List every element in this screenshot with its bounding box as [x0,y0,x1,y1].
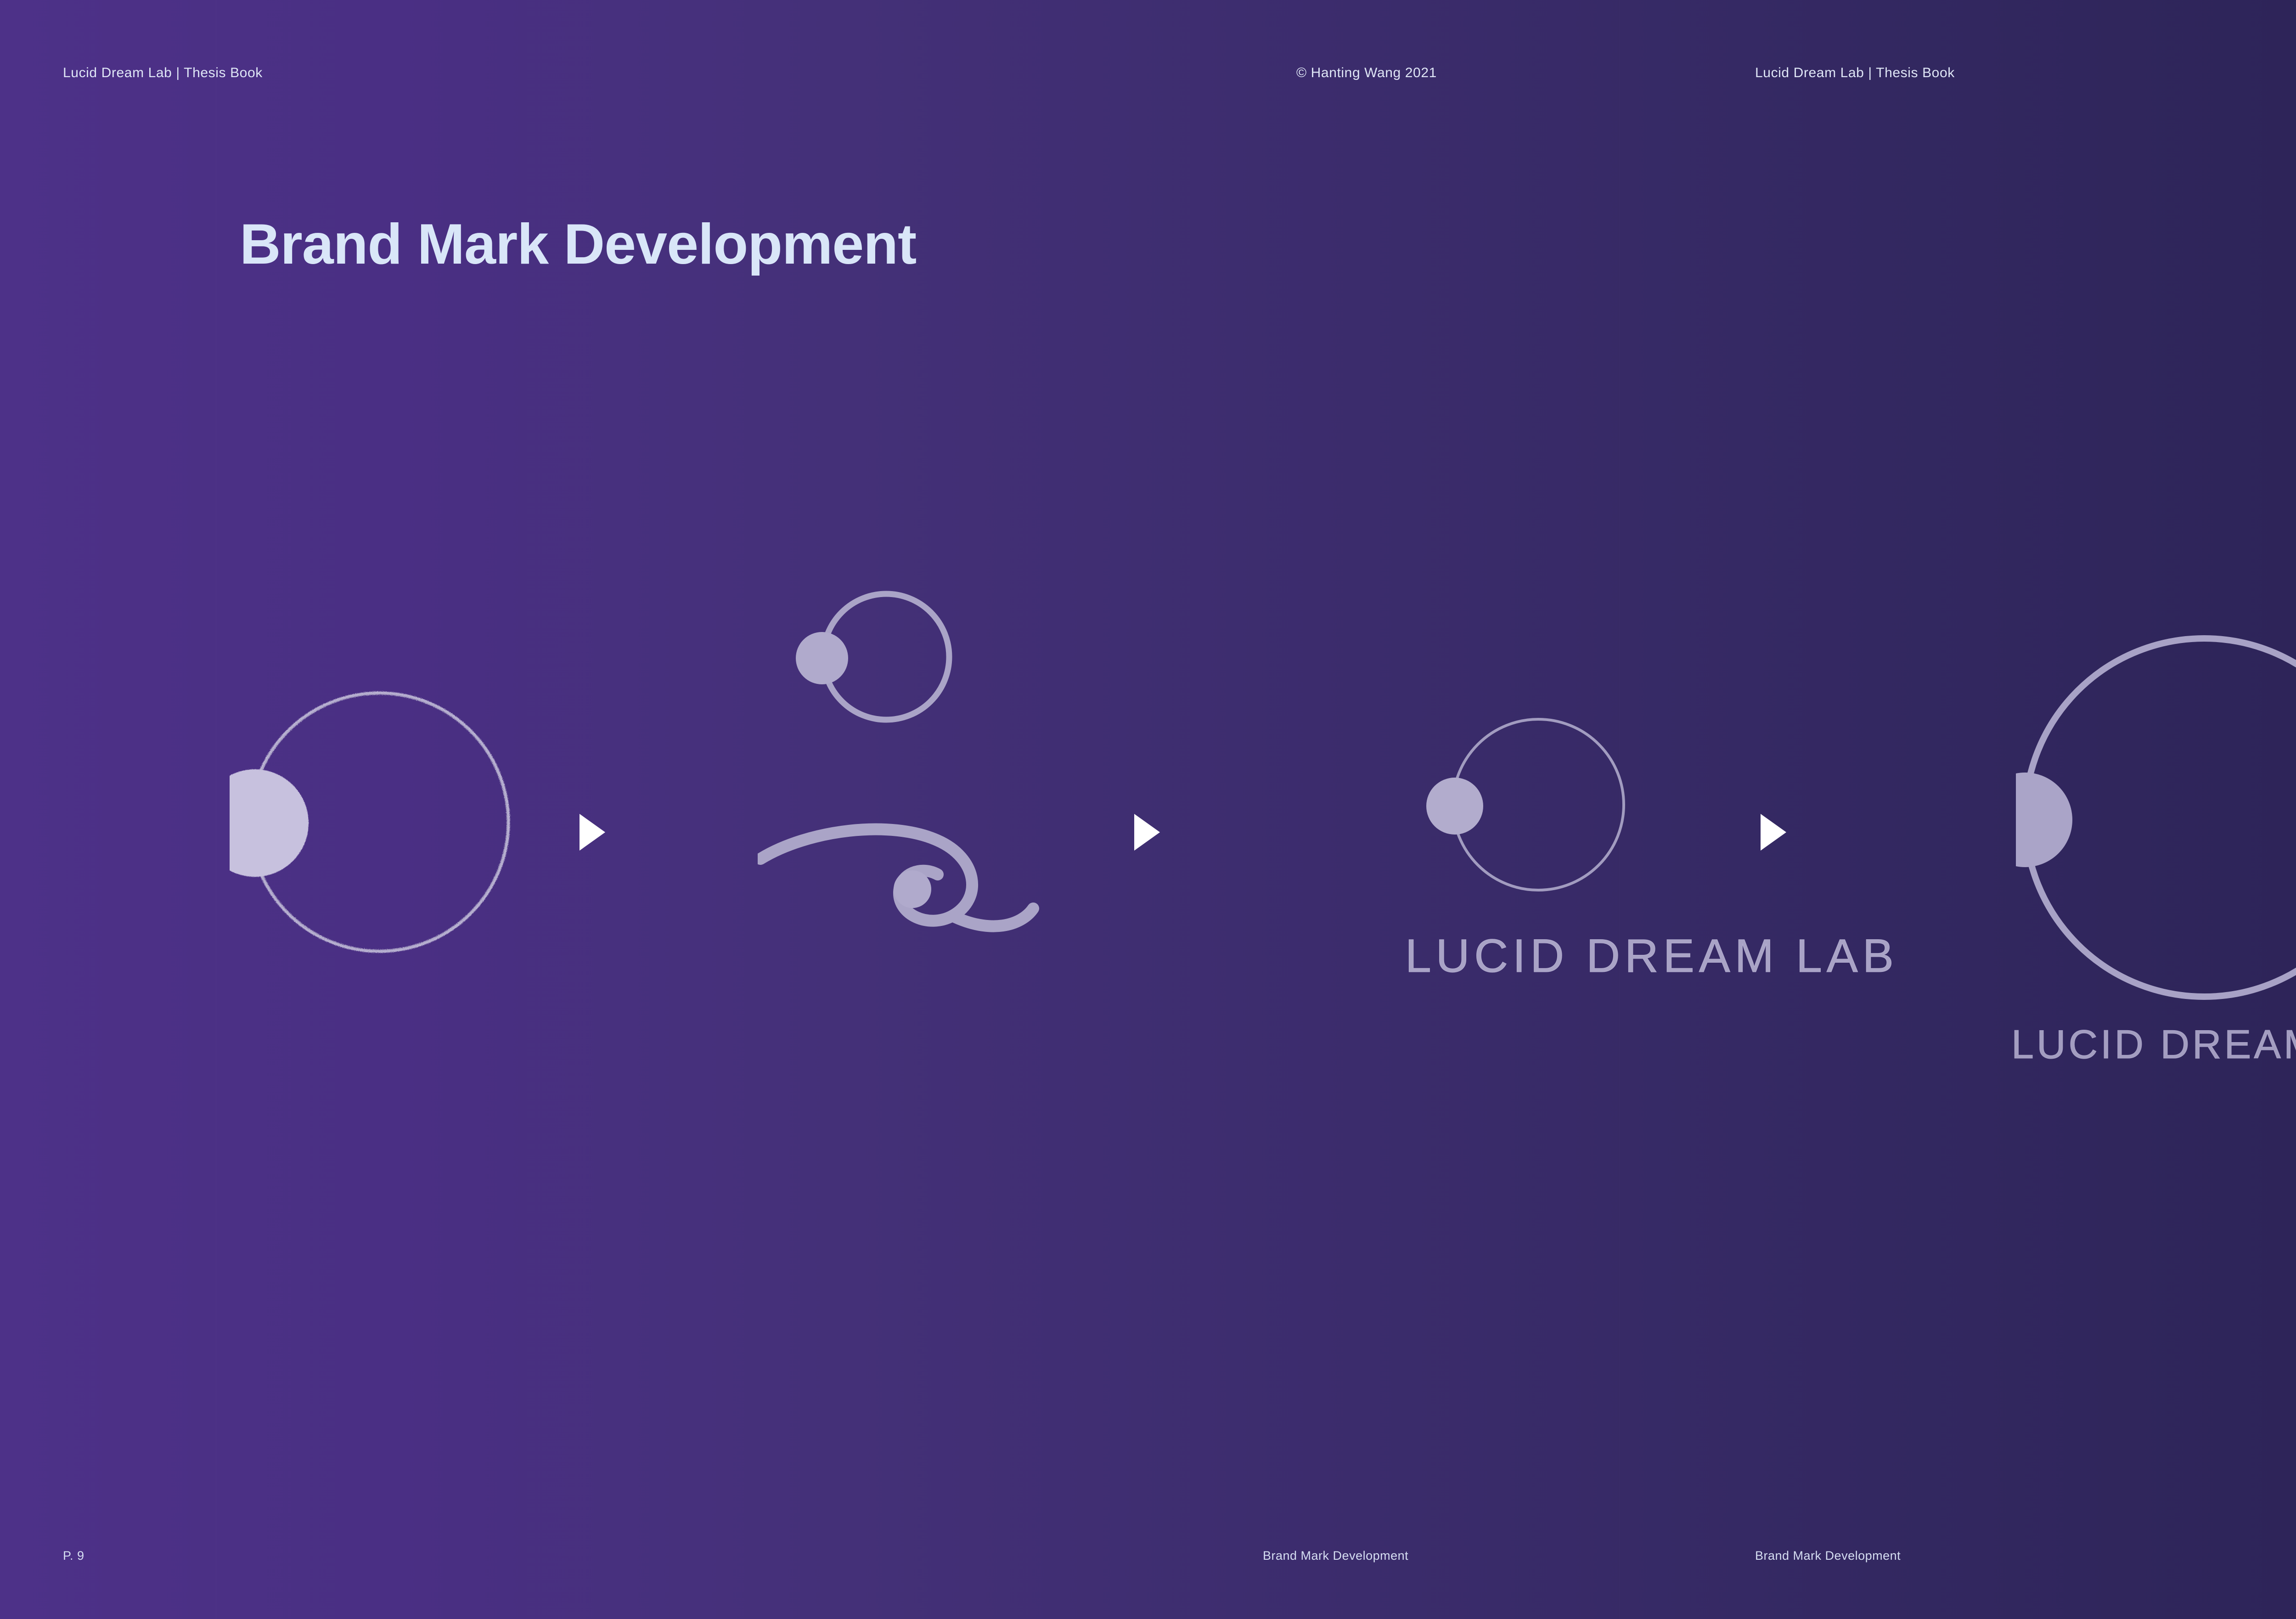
stage-4-scaled-lockup: LUCID DREAM LAB [2011,634,2296,1038]
footer-page-number-left: P. 9 [63,1549,84,1563]
flow-arrow-3 [1761,814,1786,851]
stage-1-hand-drawn-sketch [230,680,533,965]
footer-caption-right: Brand Mark Development [1755,1549,1901,1563]
copyright-left: © Hanting Wang 2021 [1296,65,1437,81]
study-circle-with-dot [796,594,949,720]
spiral-swirl-study [760,829,1033,926]
running-head-left: Lucid Dream Lab | Thesis Book [63,65,263,81]
brand-mark-progression: LUCID DREAM LAB LUCID DREAM LAB [0,528,2296,1070]
flow-arrow-1 [580,814,605,851]
flow-arrow-2 [1134,814,1160,851]
sketch-filled-dot [230,769,309,877]
stage-4-logotype: LUCID DREAM LAB [2011,1024,2296,1065]
stage-2-form-exploration [758,583,1070,1043]
stage-3-refined-outline: LUCID DREAM LAB [1405,707,2002,1029]
slide-page: Lucid Dream Lab | Thesis Book © Hanting … [0,0,2296,1619]
refined-circle-with-dot [1426,719,1624,890]
lockup-circle-with-dot [2016,638,2296,997]
stage-3-logotype: LUCID DREAM LAB [1405,932,1898,979]
footer-caption-left: Brand Mark Development [1263,1549,1408,1563]
running-head-right: Lucid Dream Lab | Thesis Book [1755,65,1955,81]
page-title: Brand Mark Development [240,216,916,273]
